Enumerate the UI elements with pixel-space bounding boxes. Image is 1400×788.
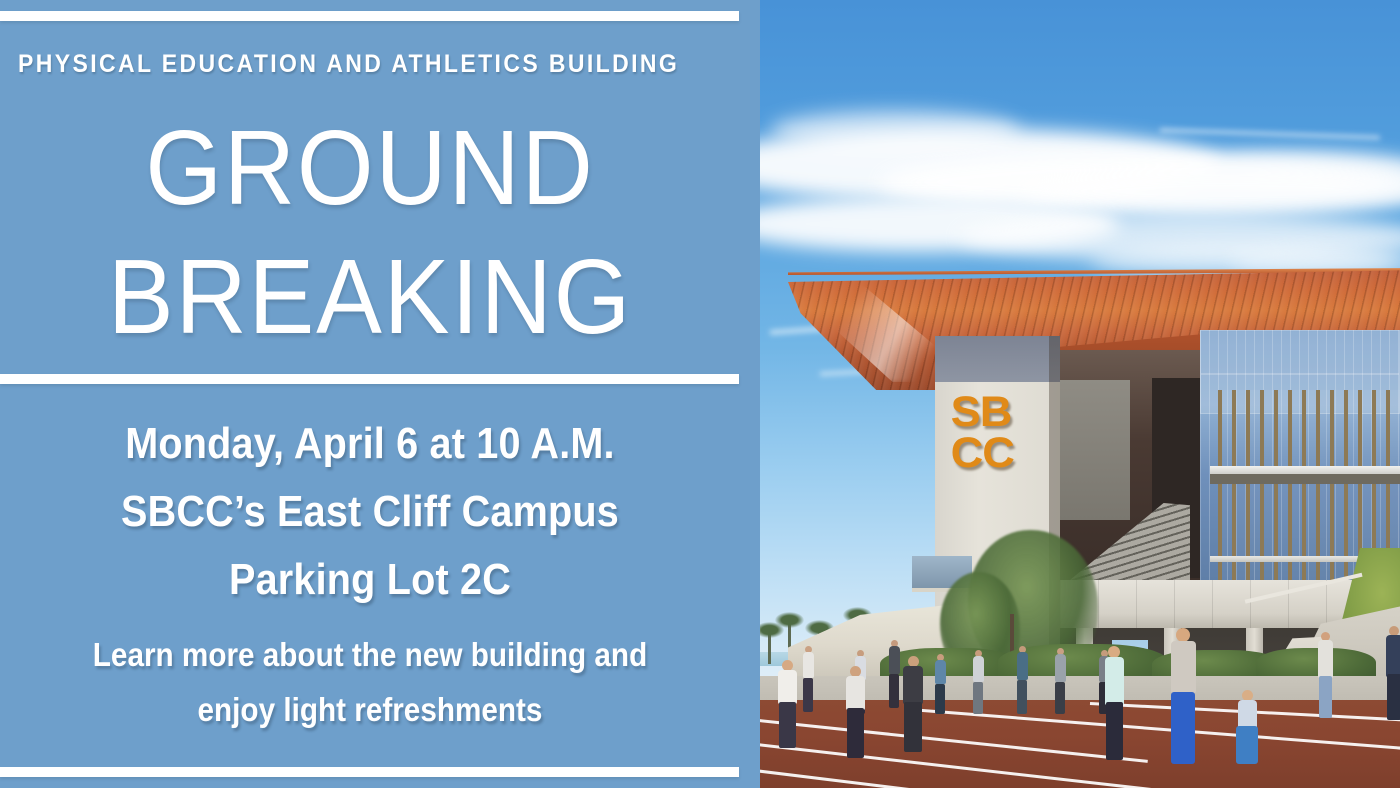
event-datetime: Monday, April 6 at 10 A.M. bbox=[37, 410, 703, 478]
person-figure bbox=[1316, 632, 1334, 718]
sbcc-logo-line-1: SB bbox=[951, 392, 1050, 433]
event-details: Monday, April 6 at 10 A.M. SBCC’s East C… bbox=[37, 410, 703, 615]
event-subnote: Learn more about the new building and en… bbox=[37, 628, 703, 738]
balcony-railing bbox=[1210, 466, 1400, 474]
palm-tree bbox=[768, 630, 771, 664]
eyebrow-text: PHYSICAL EDUCATION AND ATHLETICS BUILDIN… bbox=[18, 50, 662, 79]
person-figure bbox=[1384, 626, 1400, 720]
subnote-line-2: enjoy light refreshments bbox=[37, 683, 703, 738]
person-figure-foreground bbox=[1168, 628, 1198, 764]
page-title: GROUND BREAKING bbox=[26, 104, 714, 363]
divider-rule-bottom bbox=[0, 767, 739, 777]
sbcc-logo: SB CC bbox=[951, 392, 1050, 474]
event-poster: SB CC bbox=[0, 0, 1400, 788]
balcony-floor bbox=[1210, 474, 1400, 484]
divider-rule-middle bbox=[0, 374, 739, 384]
person-figure bbox=[932, 654, 948, 714]
building-rendering-image: SB CC bbox=[760, 0, 1400, 788]
blue-info-panel: PHYSICAL EDUCATION AND ATHLETICS BUILDIN… bbox=[0, 0, 760, 788]
interior-wall bbox=[1060, 380, 1130, 520]
person-figure-stretching bbox=[842, 666, 868, 758]
person-figure bbox=[1014, 646, 1030, 714]
person-figure bbox=[800, 646, 816, 712]
subnote-line-1: Learn more about the new building and bbox=[37, 628, 703, 683]
event-location-lot: Parking Lot 2C bbox=[37, 546, 703, 614]
glass-panel bbox=[1200, 330, 1400, 374]
person-figure-standing bbox=[900, 656, 926, 752]
person-figure-foreground bbox=[1102, 646, 1126, 760]
person-figure-stretching bbox=[774, 660, 800, 748]
headline-line-2: BREAKING bbox=[26, 233, 714, 362]
event-location-campus: SBCC’s East Cliff Campus bbox=[37, 478, 703, 546]
divider-rule-top bbox=[0, 11, 739, 21]
headline-line-1: GROUND bbox=[26, 104, 714, 233]
sbcc-logo-line-2: CC bbox=[951, 433, 1050, 474]
person-figure bbox=[970, 650, 986, 714]
person-figure bbox=[1052, 648, 1068, 714]
person-figure-foreground bbox=[1232, 690, 1262, 764]
pylon-cap bbox=[935, 336, 1060, 382]
